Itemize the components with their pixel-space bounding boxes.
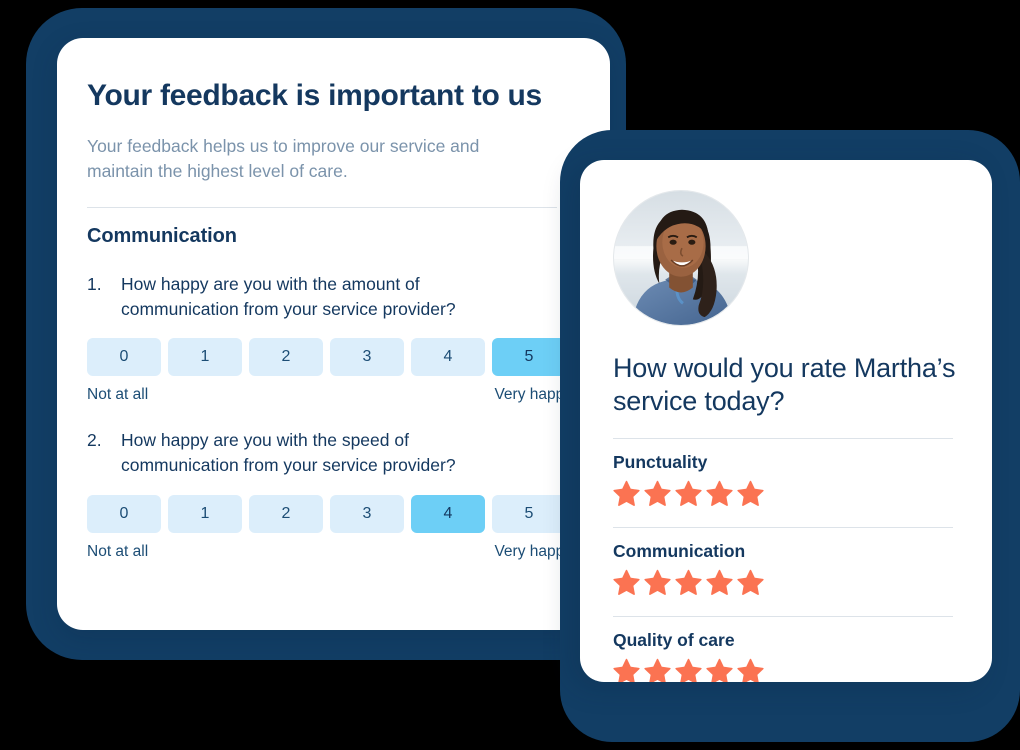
rating-divider bbox=[613, 438, 953, 439]
star-icon[interactable] bbox=[706, 480, 733, 507]
rating-label: Quality of care bbox=[613, 630, 958, 651]
question-row: 2. How happy are you with the speed of c… bbox=[87, 428, 576, 478]
rating-label: Punctuality bbox=[613, 452, 958, 473]
star-icon[interactable] bbox=[737, 569, 764, 596]
rating-card: How would you rate Martha’s service toda… bbox=[580, 160, 992, 682]
scale-option-5[interactable]: 5 bbox=[492, 495, 566, 533]
rating-divider bbox=[613, 616, 953, 617]
rating-group-punctuality: Punctuality bbox=[613, 438, 958, 507]
scale-labels-q2: Not at all Very happy bbox=[87, 543, 572, 561]
rating-group-communication: Communication bbox=[613, 527, 958, 596]
star-icon[interactable] bbox=[706, 658, 733, 682]
star-icon[interactable] bbox=[613, 658, 640, 682]
star-icon[interactable] bbox=[675, 569, 702, 596]
scale-option-2[interactable]: 2 bbox=[249, 495, 323, 533]
rating-label: Communication bbox=[613, 541, 958, 562]
section-heading-communication: Communication bbox=[87, 225, 576, 248]
star-icon[interactable] bbox=[613, 569, 640, 596]
star-icon[interactable] bbox=[644, 480, 671, 507]
question-block-2: 2. How happy are you with the speed of c… bbox=[87, 428, 576, 561]
question-block-1: 1. How happy are you with the amount of … bbox=[87, 272, 576, 405]
scale-option-3[interactable]: 3 bbox=[330, 495, 404, 533]
rating-group-quality-of-care: Quality of care bbox=[613, 616, 958, 682]
heading-divider bbox=[87, 207, 557, 208]
scale-option-4[interactable]: 4 bbox=[411, 495, 485, 533]
page-title: Your feedback is important to us bbox=[87, 78, 576, 114]
star-icon[interactable] bbox=[644, 569, 671, 596]
scale-min-label: Not at all bbox=[87, 386, 148, 404]
scale-option-2[interactable]: 2 bbox=[249, 338, 323, 376]
page-subtitle: Your feedback helps us to improve our se… bbox=[87, 134, 527, 185]
rating-scale-q1: 0 1 2 3 4 5 bbox=[87, 338, 576, 376]
scale-option-0[interactable]: 0 bbox=[87, 338, 161, 376]
feedback-card: Your feedback is important to us Your fe… bbox=[57, 38, 610, 630]
scale-option-1[interactable]: 1 bbox=[168, 495, 242, 533]
star-rating-quality-of-care[interactable] bbox=[613, 658, 958, 682]
star-rating-communication[interactable] bbox=[613, 569, 958, 596]
question-row: 1. How happy are you with the amount of … bbox=[87, 272, 576, 322]
scale-option-3[interactable]: 3 bbox=[330, 338, 404, 376]
question-text: How happy are you with the amount of com… bbox=[121, 272, 521, 322]
scale-option-4[interactable]: 4 bbox=[411, 338, 485, 376]
question-number: 2. bbox=[87, 428, 109, 453]
star-icon[interactable] bbox=[675, 658, 702, 682]
star-icon[interactable] bbox=[737, 658, 764, 682]
avatar bbox=[613, 190, 749, 326]
question-text: How happy are you with the speed of comm… bbox=[121, 428, 521, 478]
star-icon[interactable] bbox=[737, 480, 764, 507]
scale-option-0[interactable]: 0 bbox=[87, 495, 161, 533]
star-rating-punctuality[interactable] bbox=[613, 480, 958, 507]
star-icon[interactable] bbox=[706, 569, 733, 596]
scale-option-1[interactable]: 1 bbox=[168, 338, 242, 376]
star-icon[interactable] bbox=[644, 658, 671, 682]
rating-card-title: How would you rate Martha’s service toda… bbox=[613, 352, 958, 418]
star-icon[interactable] bbox=[613, 480, 640, 507]
scale-option-5[interactable]: 5 bbox=[492, 338, 566, 376]
scale-min-label: Not at all bbox=[87, 543, 148, 561]
avatar-photo-icon bbox=[614, 191, 748, 325]
question-number: 1. bbox=[87, 272, 109, 297]
rating-divider bbox=[613, 527, 953, 528]
scale-labels-q1: Not at all Very happy bbox=[87, 386, 572, 404]
rating-scale-q2: 0 1 2 3 4 5 bbox=[87, 495, 576, 533]
star-icon[interactable] bbox=[675, 480, 702, 507]
